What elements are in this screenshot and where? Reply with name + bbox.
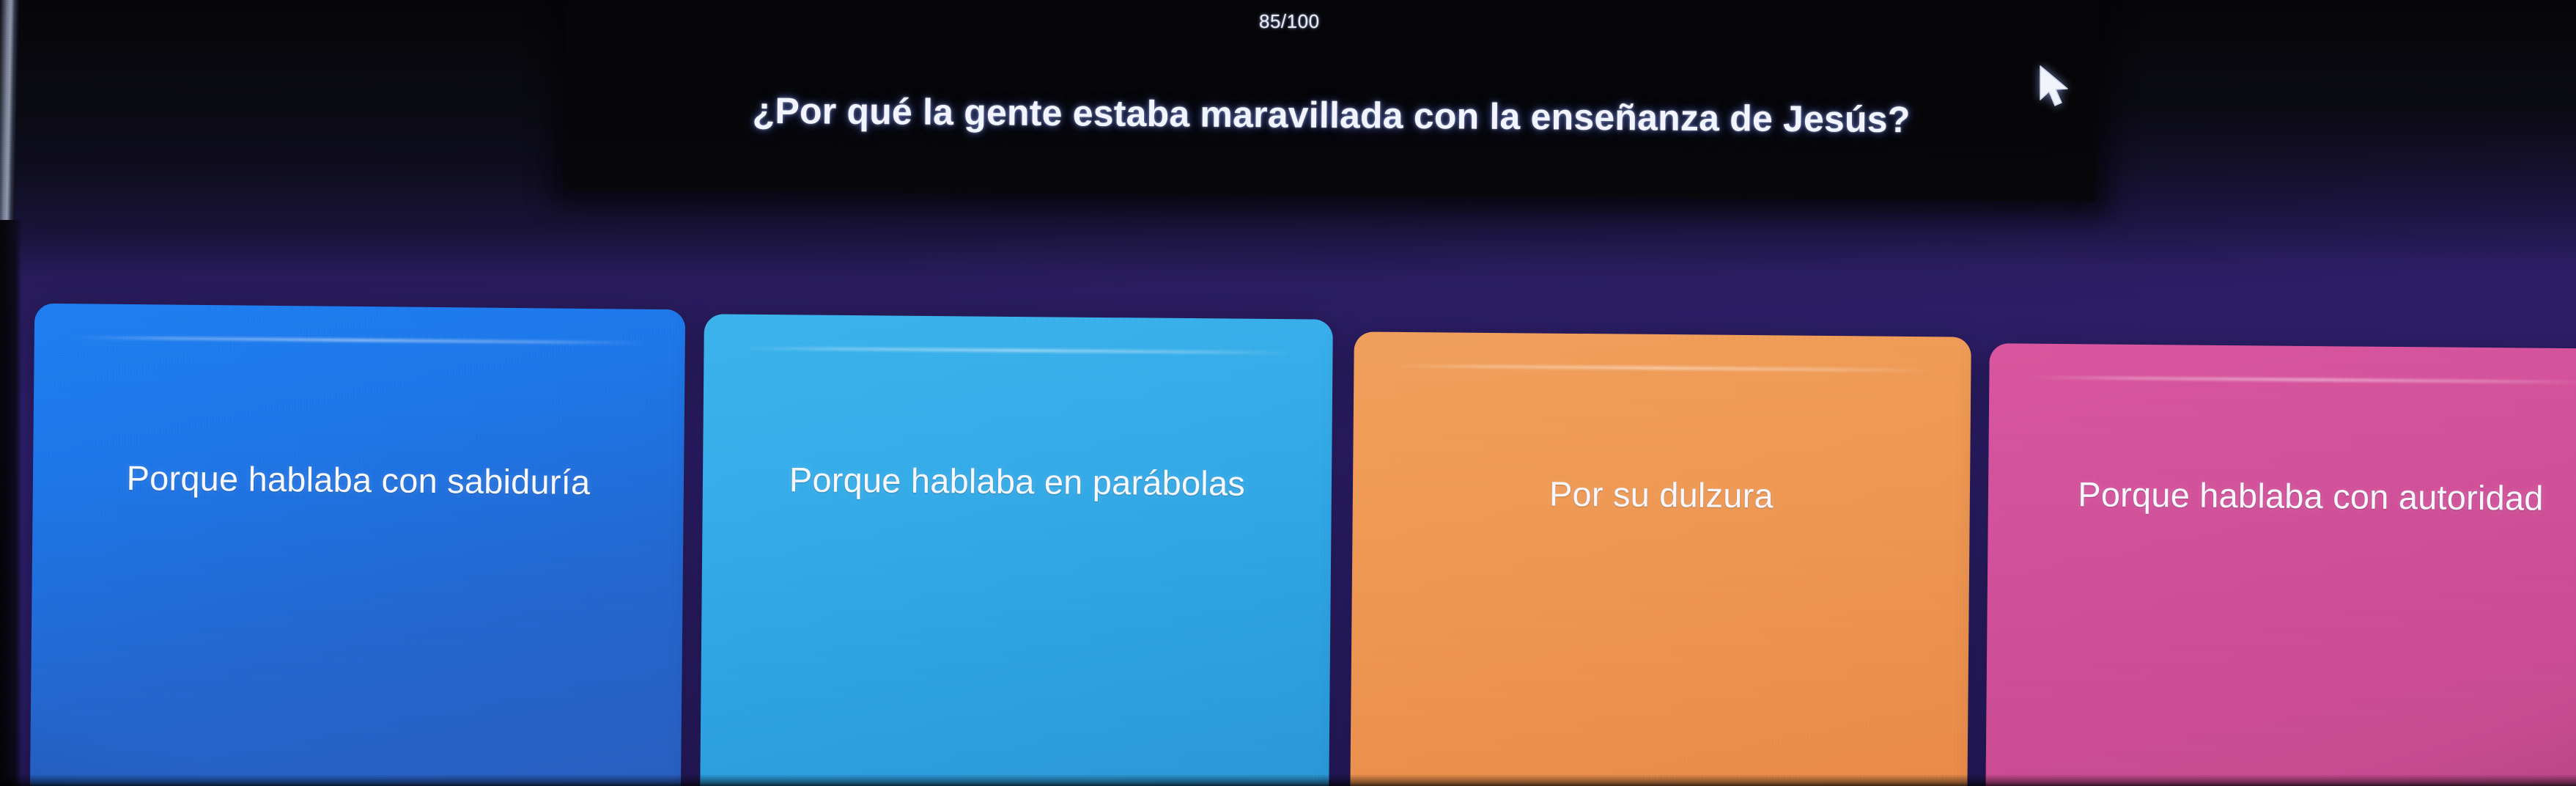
progress-counter: 85/100 bbox=[1259, 10, 1320, 33]
answer-label-2: Por su dulzura bbox=[1396, 471, 1927, 518]
answer-label-3: Porque hablaba con autoridad bbox=[2040, 473, 2576, 520]
question-banner: ¿Por qué la gente estaba maravillada con… bbox=[565, 0, 2098, 202]
answer-label-1: Porque hablaba en parábolas bbox=[747, 458, 1288, 505]
answer-tile-1[interactable]: Porque hablaba en parábolas bbox=[700, 314, 1333, 786]
quiz-screen: 85/100 ¿Por qué la gente estaba maravill… bbox=[0, 0, 2576, 786]
answer-tile-2[interactable]: Por su dulzura bbox=[1350, 331, 1971, 786]
answer-tile-0[interactable]: Porque hablaba con sabiduría bbox=[30, 304, 685, 786]
answer-tile-3[interactable]: Porque hablaba con autoridad bbox=[1985, 343, 2576, 786]
mouse-pointer-icon bbox=[2036, 65, 2074, 110]
question-text: ¿Por qué la gente estaba maravillada con… bbox=[565, 88, 2097, 142]
answer-label-0: Porque hablaba con sabiduría bbox=[78, 456, 638, 504]
